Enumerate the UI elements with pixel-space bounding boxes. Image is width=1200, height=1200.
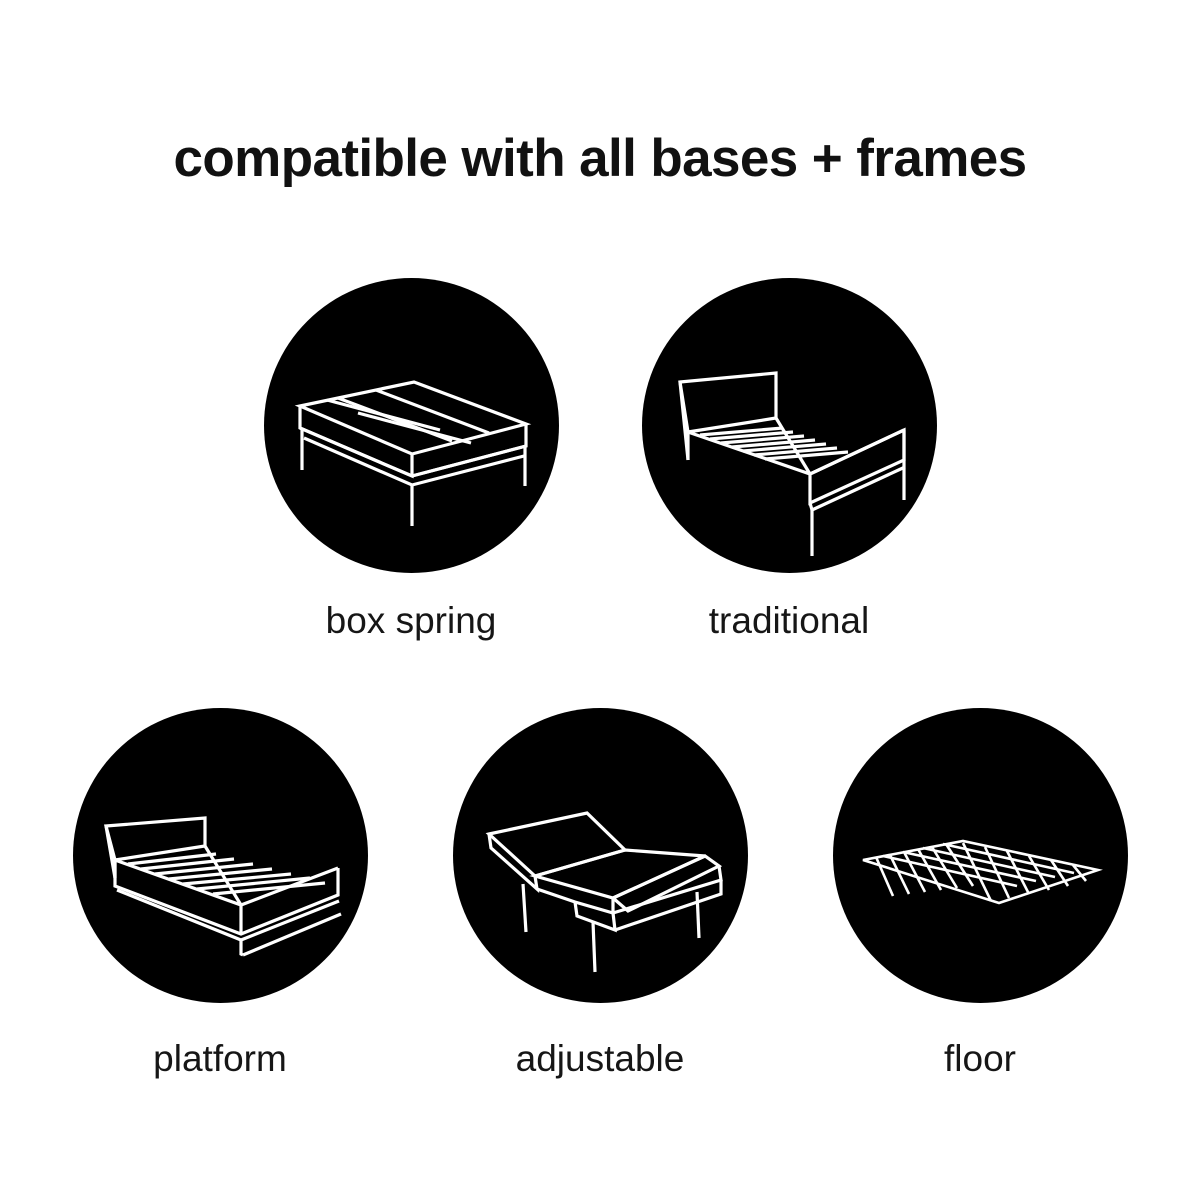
box-spring-bed-icon [264,278,559,573]
adjustable-bed-base-icon [453,708,748,1003]
adjustable-badge[interactable] [453,708,748,1003]
base-option-adjustable[interactable]: adjustable [453,708,748,1081]
traditional-badge[interactable] [642,278,937,573]
floor-slat-grid-icon [833,708,1128,1003]
base-option-box-spring[interactable]: box spring [264,278,559,643]
base-option-traditional[interactable]: traditional [642,278,937,643]
base-option-label: box spring [326,599,497,643]
base-option-label: floor [944,1037,1016,1081]
base-option-label: adjustable [516,1037,685,1081]
page-title: compatible with all bases + frames [0,128,1200,190]
box-spring-badge[interactable] [264,278,559,573]
bases-row-top: box spring [0,278,1200,643]
traditional-bed-frame-icon [642,278,937,573]
platform-bed-icon [73,708,368,1003]
bases-row-bottom: platform [0,708,1200,1081]
platform-badge[interactable] [73,708,368,1003]
base-option-label: platform [153,1037,287,1081]
base-option-floor[interactable]: floor [833,708,1128,1081]
compatibility-graphic: compatible with all bases + frames [0,0,1200,1200]
base-option-label: traditional [709,599,869,643]
base-option-platform[interactable]: platform [73,708,368,1081]
floor-badge[interactable] [833,708,1128,1003]
